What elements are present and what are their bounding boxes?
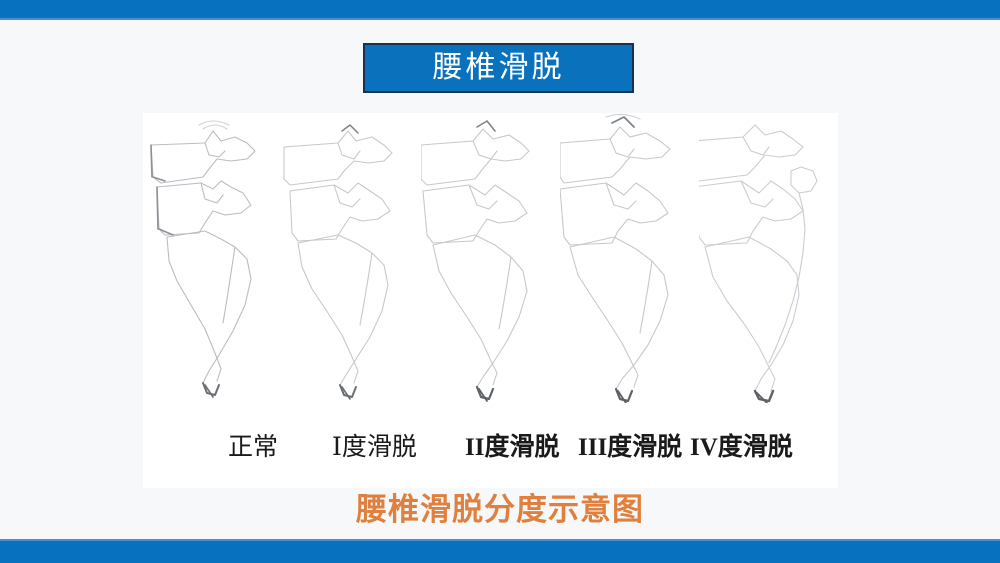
vertebra-figure-normal [143, 113, 282, 403]
slide-title: 腰椎滑脱 [433, 53, 565, 83]
vertebra-figure-grade-4 [699, 113, 838, 403]
vertebra-figure-grade-3 [560, 113, 699, 403]
top-accent-bar [0, 0, 1000, 20]
vertebra-figure-grade-2 [421, 113, 560, 403]
bottom-accent-bar [0, 539, 1000, 563]
vertebra-figure-grade-1 [282, 113, 421, 403]
illustration-panel [143, 113, 838, 488]
slide-title-box: 腰椎滑脱 [363, 43, 634, 93]
vertebra-figure-row [143, 113, 838, 403]
slide-caption: 腰椎滑脱分度示意图 [0, 494, 1000, 525]
